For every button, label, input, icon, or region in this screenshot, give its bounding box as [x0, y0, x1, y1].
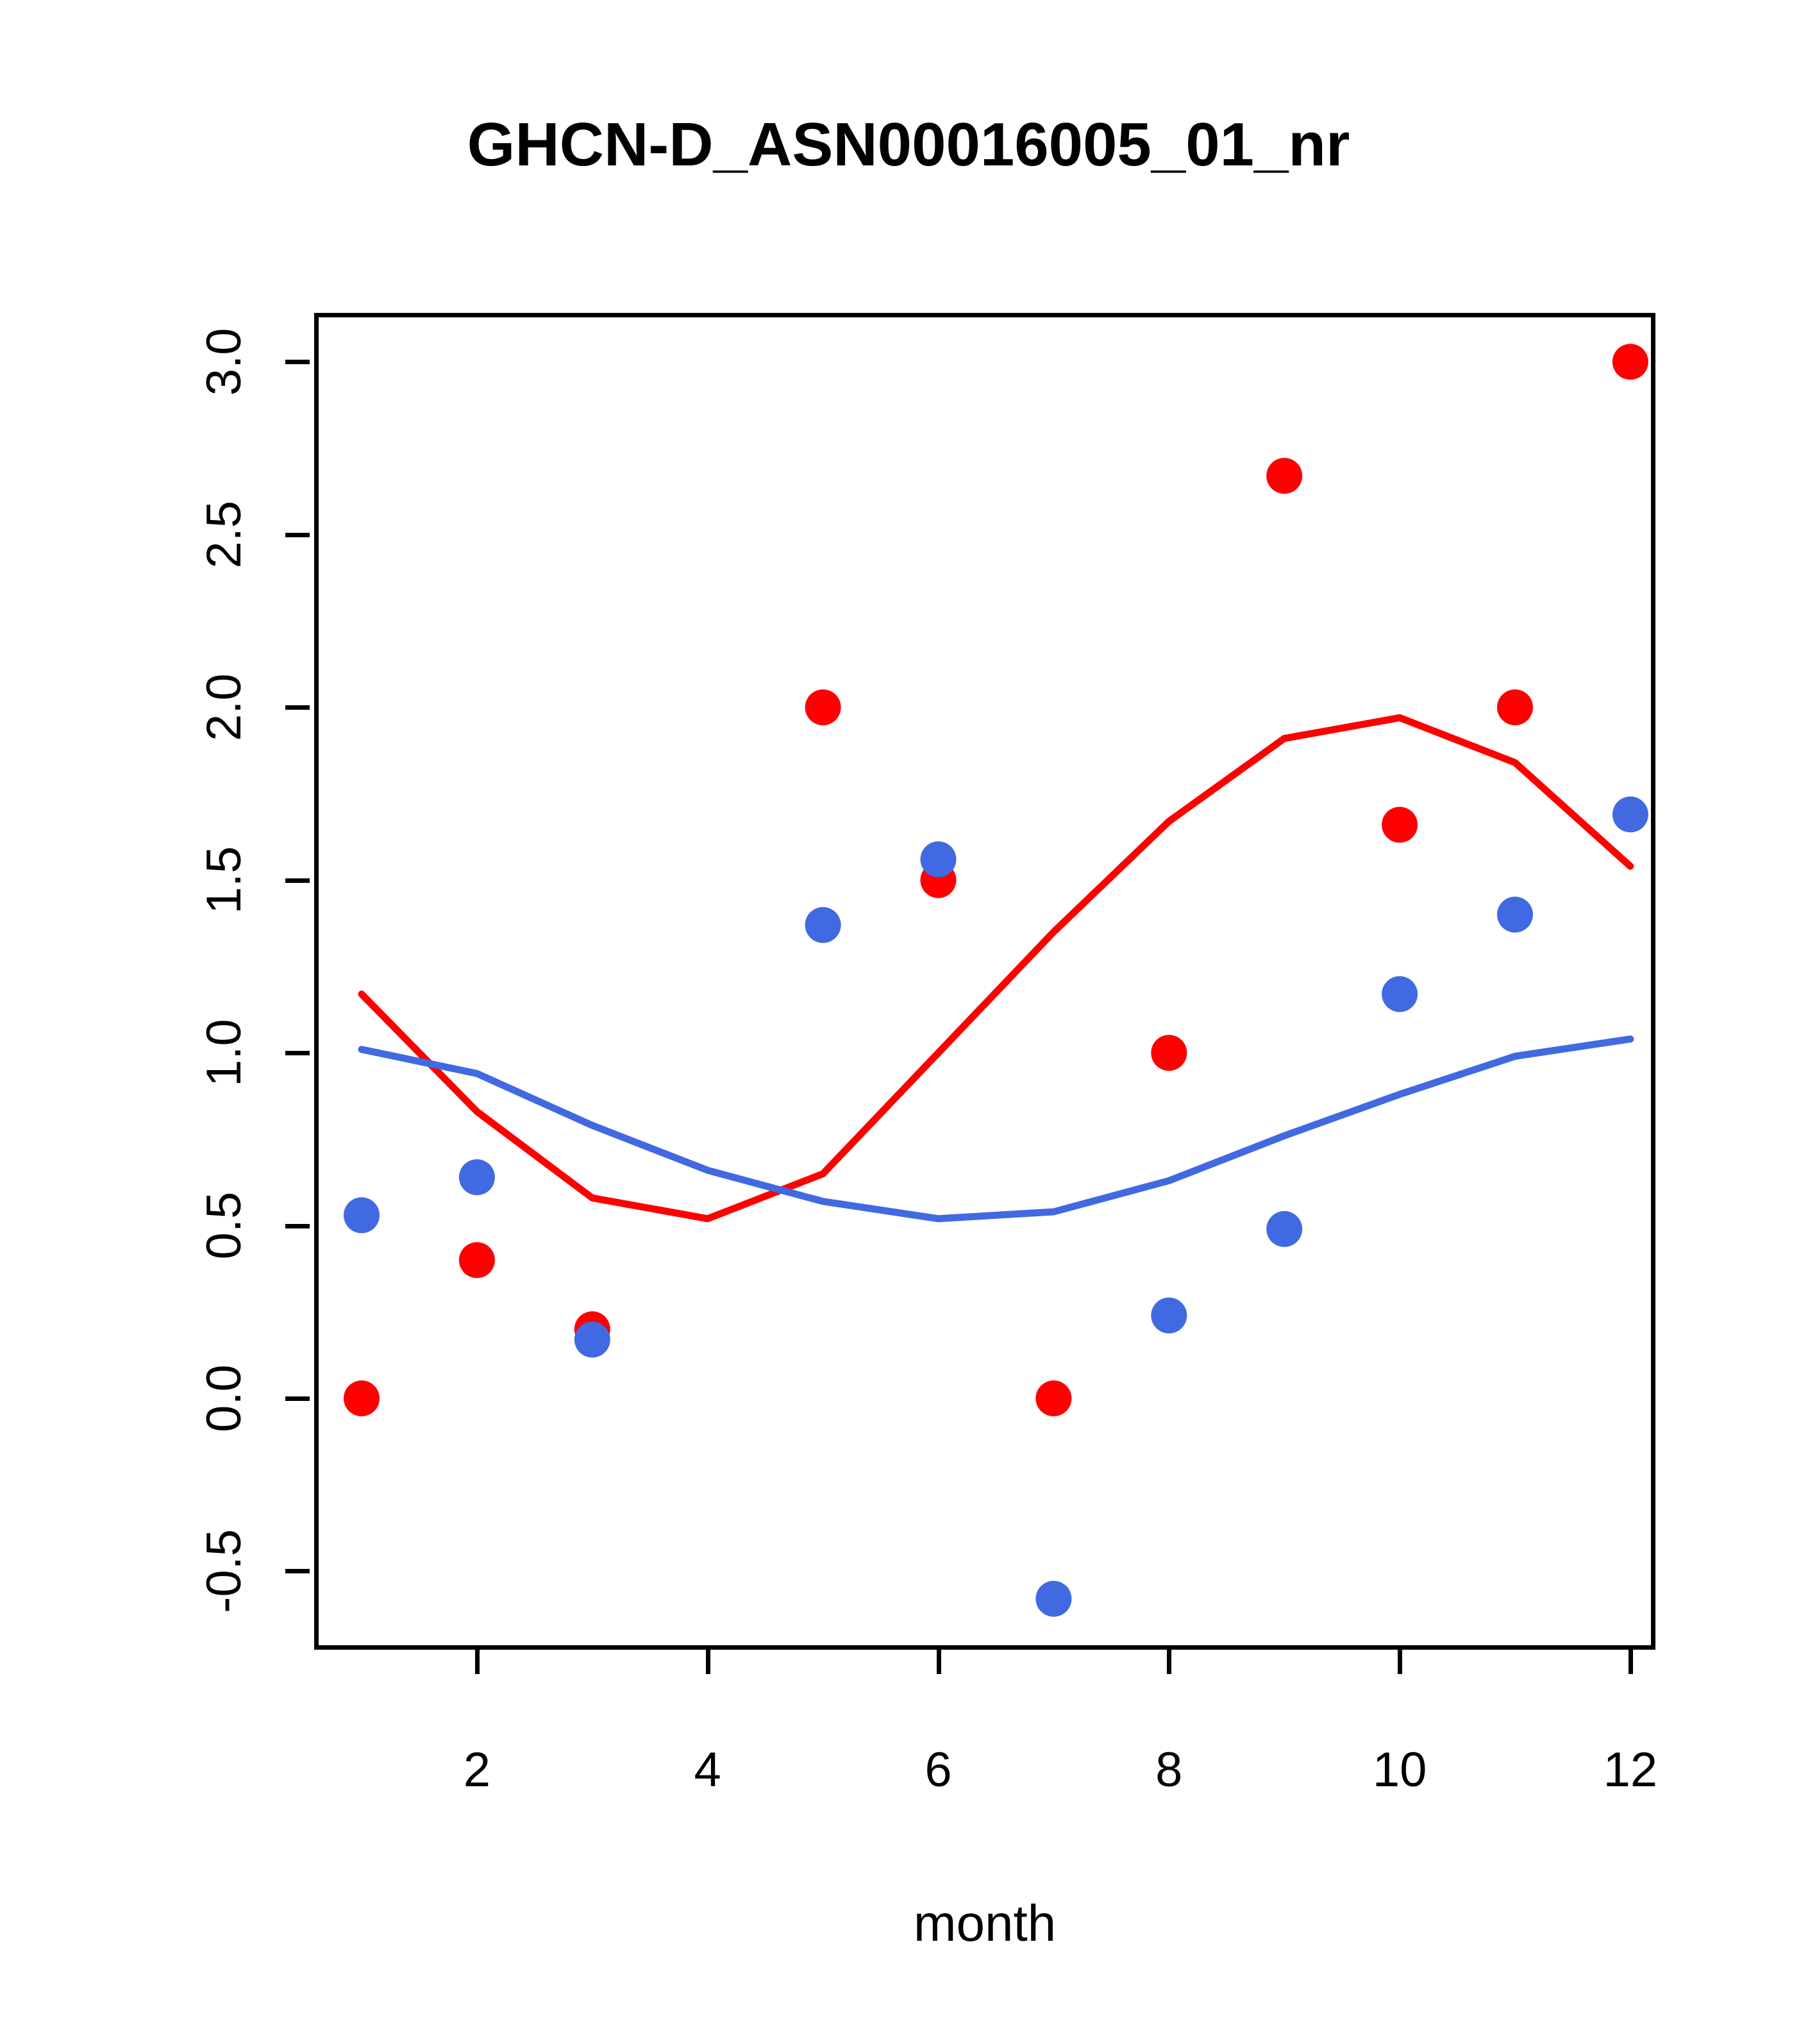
y-axis-tick-label-text: -0.5 — [200, 1526, 249, 1616]
blue-points-marker — [921, 841, 957, 877]
x-axis-tick-label: 2 — [464, 1746, 490, 1795]
y-axis-tick-label-text: 2.5 — [200, 490, 249, 580]
red-line — [362, 717, 1630, 1218]
y-axis-tick-label-text: 2.0 — [200, 662, 249, 752]
blue-points-marker — [344, 1197, 380, 1233]
blue-points-marker — [459, 1159, 495, 1195]
x-axis-tick-label: 4 — [694, 1746, 721, 1795]
blue-points-marker — [574, 1321, 610, 1357]
plot-svg — [314, 313, 1655, 1650]
x-axis-title: month — [314, 1898, 1655, 1949]
y-axis-tick-label-text: 0.0 — [200, 1353, 249, 1443]
x-axis-tick-label: 10 — [1373, 1746, 1427, 1795]
x-axis-tick — [1167, 1650, 1171, 1674]
blue-points-marker — [1612, 796, 1648, 832]
y-axis-tick — [285, 1051, 310, 1055]
red-points-marker — [805, 689, 841, 725]
blue-points-marker — [1497, 897, 1533, 933]
blue-points-marker — [1382, 976, 1418, 1012]
x-axis-tick-label: 12 — [1603, 1746, 1658, 1795]
chart-page: GHCN-D_ASN00016005_01_nr 3.02.52.01.51.0… — [0, 0, 1817, 2044]
x-axis-tick — [1398, 1650, 1402, 1674]
red-points-marker — [1612, 344, 1648, 380]
y-axis-tick — [285, 878, 310, 883]
red-points-marker — [1382, 807, 1418, 842]
y-axis-tick-label-text: 3.0 — [200, 317, 249, 406]
y-axis-tick — [285, 705, 310, 710]
y-axis-tick — [285, 1396, 310, 1401]
x-axis-tick — [1629, 1650, 1633, 1674]
x-axis-tick-label: 6 — [925, 1746, 951, 1795]
y-axis-tick — [285, 360, 310, 364]
blue-line — [362, 1039, 1630, 1219]
red-points-marker — [459, 1242, 495, 1278]
blue-points-marker — [1151, 1298, 1187, 1334]
x-axis-tick — [475, 1650, 480, 1674]
plot-area — [314, 313, 1655, 1650]
blue-points-marker — [805, 907, 841, 943]
y-axis-tick — [285, 533, 310, 537]
red-points-marker — [1497, 689, 1533, 725]
y-axis-tick — [285, 1224, 310, 1228]
y-axis-tick-label-text: 0.5 — [200, 1181, 249, 1271]
y-axis-tick-label-text: 1.5 — [200, 835, 249, 925]
red-points-marker — [344, 1380, 380, 1416]
blue-points-marker — [1035, 1581, 1071, 1617]
blue-points-marker — [1266, 1211, 1302, 1247]
red-points-marker — [1151, 1035, 1187, 1071]
y-axis-tick-label-text: 1.0 — [200, 1008, 249, 1098]
x-axis-tick — [937, 1650, 941, 1674]
page-title: GHCN-D_ASN00016005_01_nr — [0, 114, 1817, 176]
y-axis-tick — [285, 1569, 310, 1573]
x-axis-tick-label: 8 — [1155, 1746, 1182, 1795]
red-points-marker — [1266, 458, 1302, 494]
x-axis-tick — [706, 1650, 710, 1674]
red-points-marker — [1035, 1380, 1071, 1416]
